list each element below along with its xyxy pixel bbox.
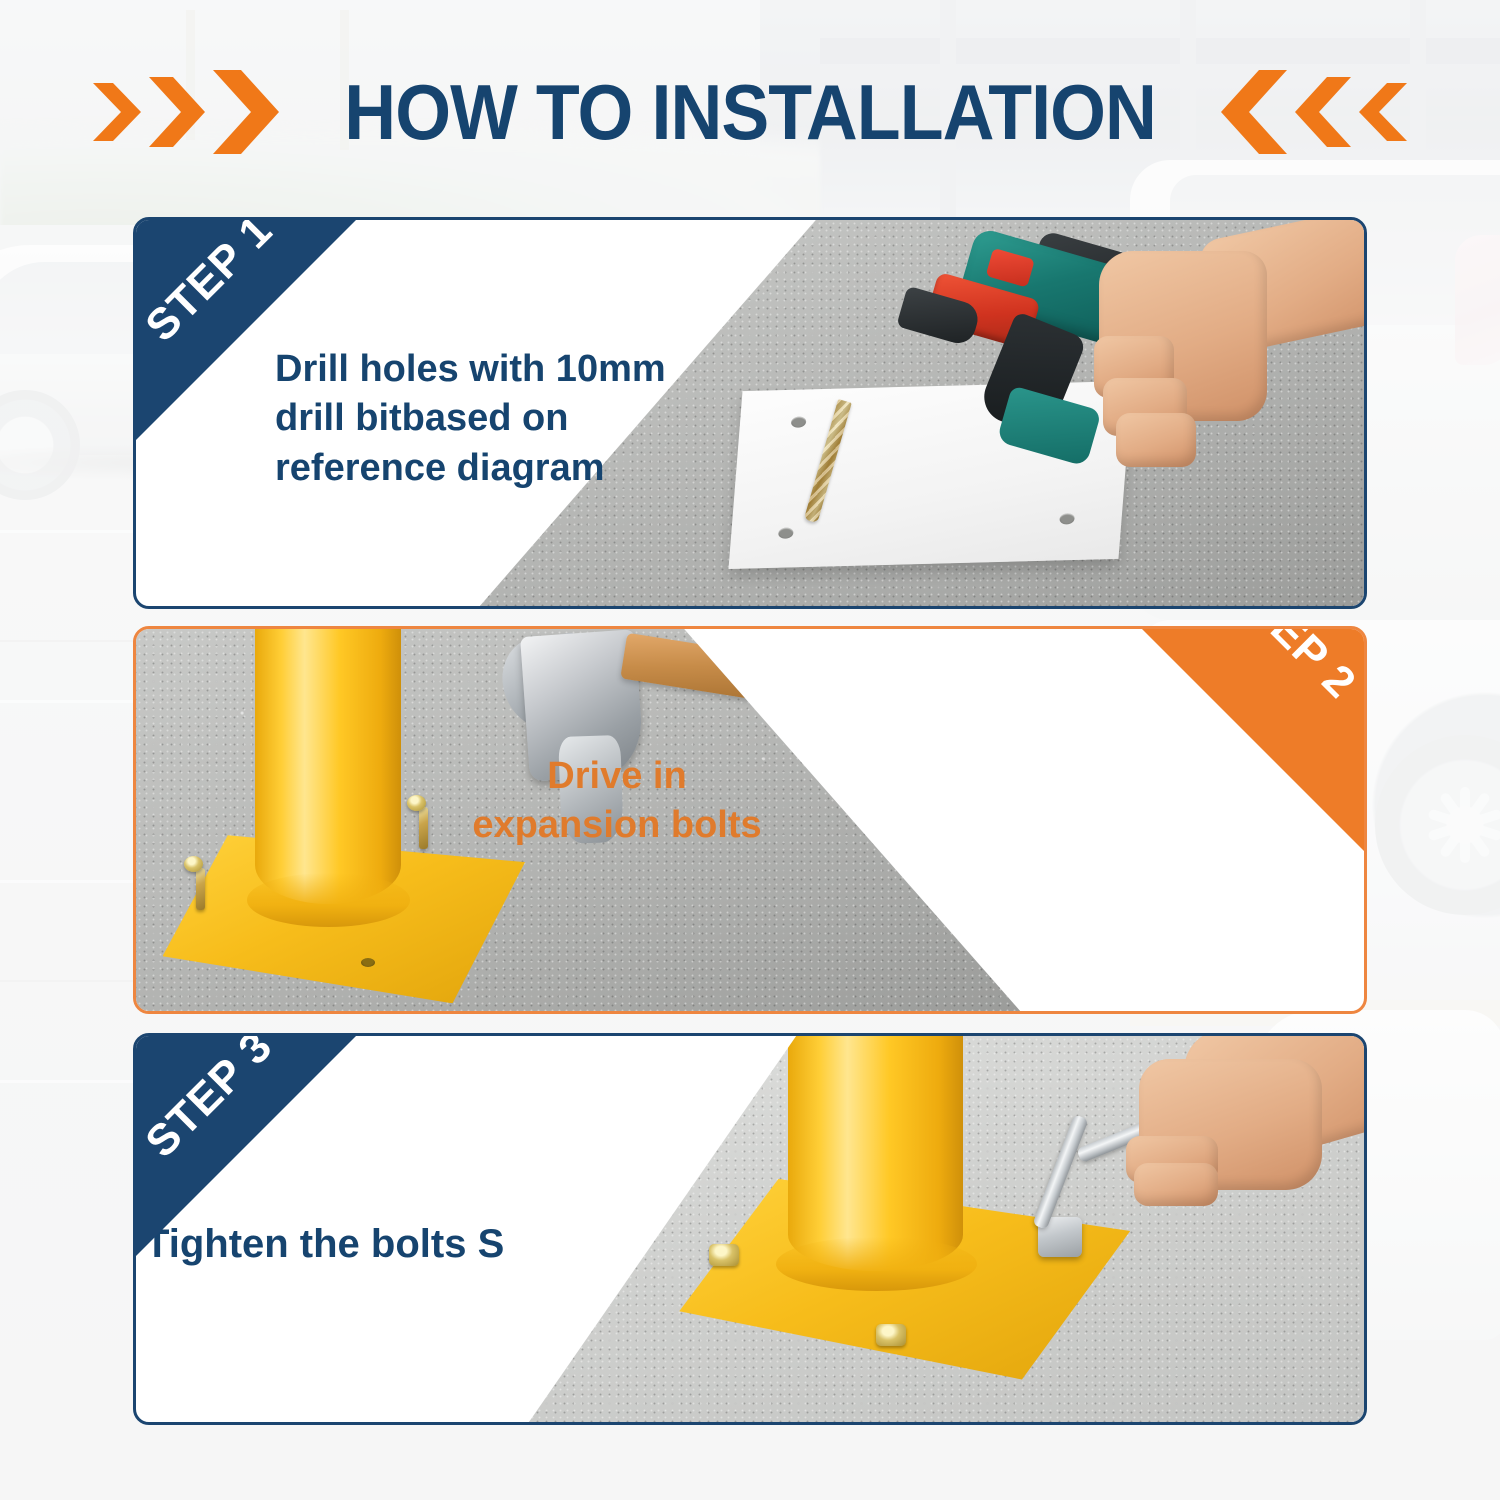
hex-bolt-head — [876, 1324, 906, 1346]
chevron-left-icon — [1219, 68, 1289, 156]
page-title: HOW TO INSTALLATION — [320, 73, 1179, 151]
chevron-right-icon — [211, 68, 281, 156]
expansion-bolt — [196, 868, 205, 910]
chevrons-right — [1217, 68, 1411, 156]
bollard-post-base-weld — [247, 873, 411, 926]
infographic-page: HOW TO INSTALLATION — [0, 0, 1500, 1500]
expansion-bolt-head — [184, 856, 203, 872]
step-2-text: Drive in expansion bolts — [0, 752, 1234, 851]
chevron-left-icon — [1357, 81, 1409, 143]
base-plate-hole — [361, 958, 375, 967]
finger — [1134, 1163, 1218, 1205]
chevron-right-icon — [91, 81, 143, 143]
plate-hole — [778, 528, 794, 539]
chevron-left-icon — [1293, 75, 1353, 149]
plate-hole — [790, 416, 806, 427]
chevrons-left — [89, 68, 283, 156]
finger — [1116, 413, 1196, 467]
step-card-1: STEP 1 — [133, 217, 1367, 609]
page-header: HOW TO INSTALLATION — [0, 52, 1500, 172]
plate-hole — [1059, 513, 1075, 524]
chevron-right-icon — [147, 75, 207, 149]
background-car-taillight — [1455, 235, 1500, 365]
